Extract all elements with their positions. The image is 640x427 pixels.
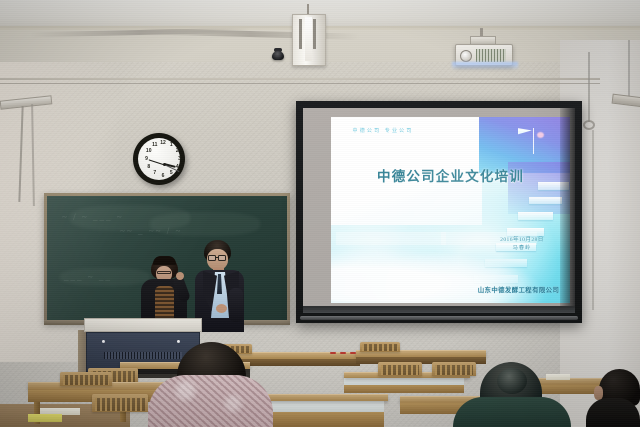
projector-lens-icon	[460, 50, 472, 62]
wall-clock: 121234567891011	[133, 133, 185, 185]
pink-floral-jacket	[148, 375, 273, 427]
desk-surface	[344, 377, 464, 385]
clock-center-pin	[163, 163, 166, 166]
screen-bottom-bar	[303, 306, 575, 313]
podium-vent-grille	[104, 352, 182, 359]
wall-conduit	[0, 83, 600, 84]
slide-subtitle: 中德公司 专业公司	[353, 127, 414, 134]
projector-beam-glow	[452, 62, 518, 70]
man-glasses-icon	[218, 255, 226, 261]
desk-mark	[330, 352, 336, 354]
wall-camera-dome-icon	[272, 51, 284, 60]
wall-conduit	[0, 78, 600, 80]
slide-bar-graphic	[345, 275, 431, 295]
slide-flagpole-graphic	[533, 128, 535, 154]
man-hand	[216, 304, 227, 313]
light-tube	[305, 17, 312, 61]
clock-numeral: 6	[159, 173, 167, 179]
black-jacket	[586, 398, 640, 427]
slide-presenter: 马春岭	[500, 244, 544, 251]
woman-bangs	[153, 256, 176, 265]
hanging-wire	[628, 40, 630, 98]
desk-front-panel	[344, 385, 464, 393]
woman-hand	[176, 272, 184, 280]
clock-numeral: 12	[159, 140, 167, 146]
slide-bar-graphic	[336, 232, 446, 245]
man-arm	[229, 288, 243, 322]
fluorescent-light	[292, 14, 326, 66]
wall-hook	[583, 120, 595, 130]
bench-spindles	[63, 375, 109, 385]
wall-cable	[592, 130, 594, 310]
slide-organization: 山东中德发酵工程有限公司	[478, 285, 560, 294]
paper-on-desk	[546, 374, 570, 380]
wooden-desk	[258, 394, 388, 401]
screen-roller-bar	[300, 316, 578, 320]
man-glasses-bridge	[216, 257, 218, 258]
bench-spindles	[95, 398, 145, 411]
clock-numeral: 10	[145, 148, 153, 154]
desk-front-panel	[262, 412, 384, 427]
hanging-wire	[588, 52, 590, 122]
classroom-photo: 121234567891011 ~ / ~ ___ ~ ~~ _ ~~ / ~ …	[0, 0, 640, 427]
screen-shadow-edge	[560, 108, 575, 311]
slide-date: 2016年10月28日	[500, 235, 544, 243]
bench-spindles	[381, 365, 419, 375]
podium-top	[84, 318, 202, 332]
slide-date-block: 2016年10月28日 马春岭	[500, 235, 544, 251]
presentation-slide: 中德公司 专业公司 中德公司企业文化培训 2016年10月28日 马春岭 山东中…	[331, 117, 570, 303]
clock-numeral: 11	[151, 142, 159, 148]
bench-spindles	[362, 344, 398, 351]
podium-screw	[102, 340, 105, 343]
clock-numeral: 3	[176, 156, 184, 162]
desk-mark	[340, 352, 346, 354]
bench-spindles	[435, 365, 473, 375]
woman-glasses-icon	[157, 271, 171, 274]
clock-numeral: 5	[167, 170, 175, 176]
sticky-note	[28, 414, 62, 422]
clock-numeral: 7	[151, 170, 159, 176]
desk-mark	[350, 352, 356, 354]
desk-surface	[262, 400, 384, 412]
clock-numeral: 8	[145, 164, 153, 170]
clock-numeral: 2	[173, 148, 181, 154]
clock-face: 121234567891011	[138, 138, 180, 180]
slide-title: 中德公司企业文化培训	[331, 165, 570, 185]
green-jacket	[453, 397, 571, 427]
slide-sun-graphic	[537, 132, 544, 138]
man-glasses-icon	[208, 255, 216, 261]
projector-vent	[476, 49, 506, 62]
person-hair-bun	[497, 368, 527, 394]
clock-numerals: 121234567891011	[138, 138, 180, 180]
podium-screw	[177, 340, 180, 343]
